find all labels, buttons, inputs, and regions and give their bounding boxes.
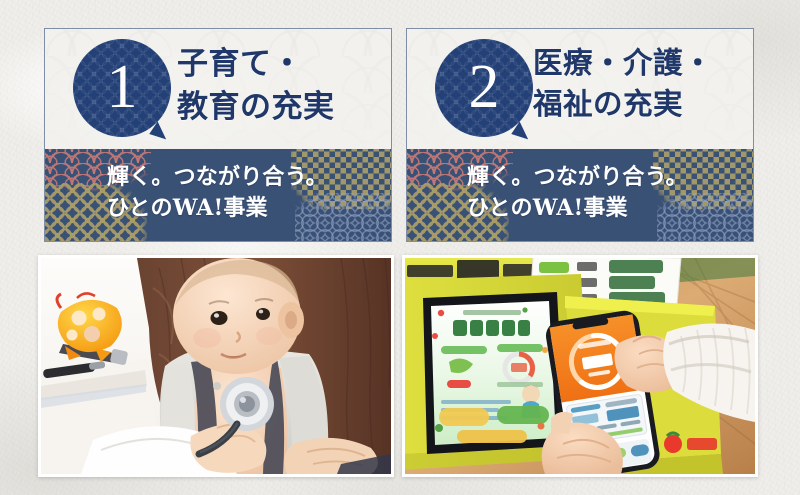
- card-2-number: 2: [435, 39, 533, 137]
- card-1-header: 1 子育て・ 教育の充実: [45, 29, 391, 149]
- card-2-tagline: 輝く。つながり合う。 ひとのWA!事業: [467, 162, 688, 224]
- card-1-tagline-band: 輝く。つながり合う。 ひとのWA!事業: [45, 149, 391, 241]
- card-2-title: 医療・介護・ 福祉の充実: [533, 43, 747, 124]
- photo-pediatric-checkup: [38, 255, 394, 477]
- card-2-tagline-band: 輝く。つながり合う。 ひとのWA!事業: [407, 149, 753, 241]
- card-1-number: 1: [73, 39, 171, 137]
- card-2-header: 2 医療・介護・ 福祉の充実: [407, 29, 753, 149]
- photo-2-illustration: [405, 258, 755, 474]
- card-1-title: 子育て・ 教育の充実: [177, 43, 385, 129]
- feature-card-1[interactable]: 1 子育て・ 教育の充実 輝く。つながり合う。 ひとのWA!事業: [44, 28, 392, 242]
- card-1-tagline: 輝く。つながり合う。 ひとのWA!事業: [107, 162, 328, 224]
- card-2-number-badge: 2: [435, 39, 533, 137]
- card-1-number-badge: 1: [73, 39, 171, 137]
- feature-card-2[interactable]: 2 医療・介護・ 福祉の充実 輝く。つながり合う。 ひとのWA!事業: [406, 28, 754, 242]
- photo-health-app-kiosk: [402, 255, 758, 477]
- cards-row: 1 子育て・ 教育の充実 輝く。つながり合う。 ひとのWA!事業: [0, 0, 800, 250]
- photo-1-illustration: [41, 258, 391, 474]
- poster-canvas: 1 子育て・ 教育の充実 輝く。つながり合う。 ひとのWA!事業: [0, 0, 800, 495]
